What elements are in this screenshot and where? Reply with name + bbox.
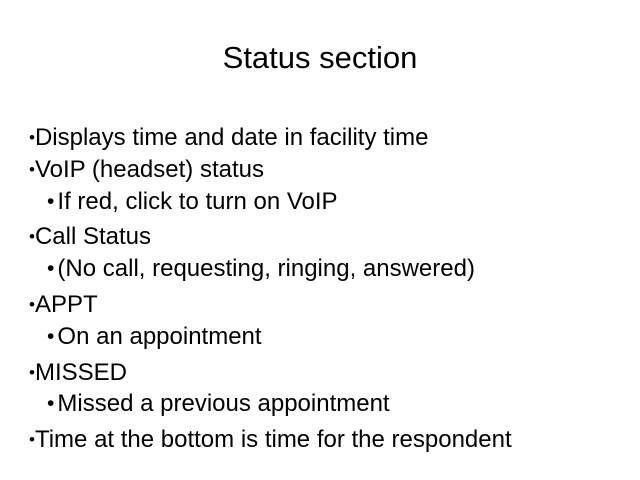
- list-item: •On an appointment: [0, 321, 640, 357]
- list-item-label: VoIP (headset) status: [35, 156, 264, 183]
- list-item-label: Missed a previous appointment: [57, 390, 389, 417]
- bullet-point-icon: •: [47, 257, 57, 280]
- bullet-list: •Displays time and date in facility time…: [0, 122, 640, 456]
- list-item: •MISSED: [0, 357, 640, 389]
- list-item-label: Displays time and date in facility time: [35, 124, 429, 151]
- list-item-label: APPT: [35, 291, 98, 318]
- list-item: •Time at the bottom is time for the resp…: [0, 424, 640, 456]
- list-item-label: Time at the bottom is time for the respo…: [35, 426, 512, 453]
- bullet-point-icon: •: [47, 325, 57, 348]
- list-item: •Call Status: [0, 221, 640, 253]
- list-item-label: MISSED: [35, 359, 127, 386]
- bullet-point-icon: •: [47, 190, 57, 213]
- presentation-slide: Status section •Displays time and date i…: [0, 0, 640, 480]
- list-item: •VoIP (headset) status: [0, 154, 640, 186]
- list-item: •Displays time and date in facility time: [0, 122, 640, 154]
- list-item-label: On an appointment: [57, 323, 261, 350]
- page-title: Status section: [0, 40, 640, 76]
- list-item: •Missed a previous appointment: [0, 388, 640, 424]
- list-item: •If red, click to turn on VoIP: [0, 186, 640, 222]
- list-item-label: (No call, requesting, ringing, answered): [57, 255, 475, 282]
- bullet-point-icon: •: [47, 392, 57, 415]
- list-item: •(No call, requesting, ringing, answered…: [0, 253, 640, 289]
- list-item-label: Call Status: [35, 223, 151, 250]
- list-item-label: If red, click to turn on VoIP: [57, 188, 337, 215]
- list-item: •APPT: [0, 289, 640, 321]
